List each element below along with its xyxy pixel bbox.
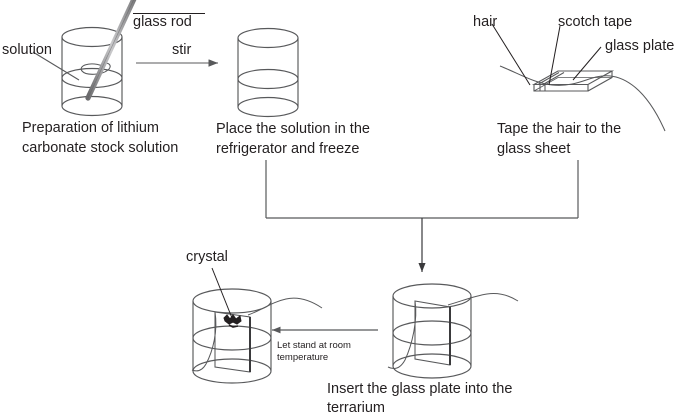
step-4-caption-line1: Insert the glass plate into the [327,381,512,398]
hair-leader [492,24,530,85]
merge-connector [266,160,578,218]
beaker-step-2 [238,29,298,117]
diagram-canvas: glass rod solution stir Preparation of l… [0,0,685,419]
crystal-leader [212,268,232,318]
step-2-caption-line2: refrigerator and freeze [216,141,359,158]
hair-label: hair [473,14,497,31]
step-1-caption-line2: carbonate stock solution [22,140,178,157]
scotch-tape-label: scotch tape [558,14,632,31]
glass-rod-label: glass rod [133,14,192,31]
crystal-label: crystal [186,249,228,266]
step-4-caption-line2: terrarium [327,400,385,417]
hair-tail-step-5 [248,298,322,315]
hair-tail-step-4 [448,293,518,305]
stir-arrow-label: stir [172,42,191,59]
solution-label: solution [2,42,52,59]
step-3-caption-line2: glass sheet [497,141,570,158]
glass-plate-label: glass plate [605,38,674,55]
step-1-caption-line1: Preparation of lithium [22,120,159,137]
let-stand-label-line2: temperature [277,352,328,364]
glass-plate-object [534,71,612,91]
let-stand-label-line1: Let stand at room [277,340,351,352]
crystal-object [224,315,241,327]
inserted-glass-plate-step-4 [415,301,450,365]
glass-plate-leader [573,47,601,80]
step-2-caption-line1: Place the solution in the [216,121,370,138]
beaker-step-4 [393,284,471,378]
step-3-caption-line1: Tape the hair to the [497,121,621,138]
diagram-artwork [0,0,685,419]
